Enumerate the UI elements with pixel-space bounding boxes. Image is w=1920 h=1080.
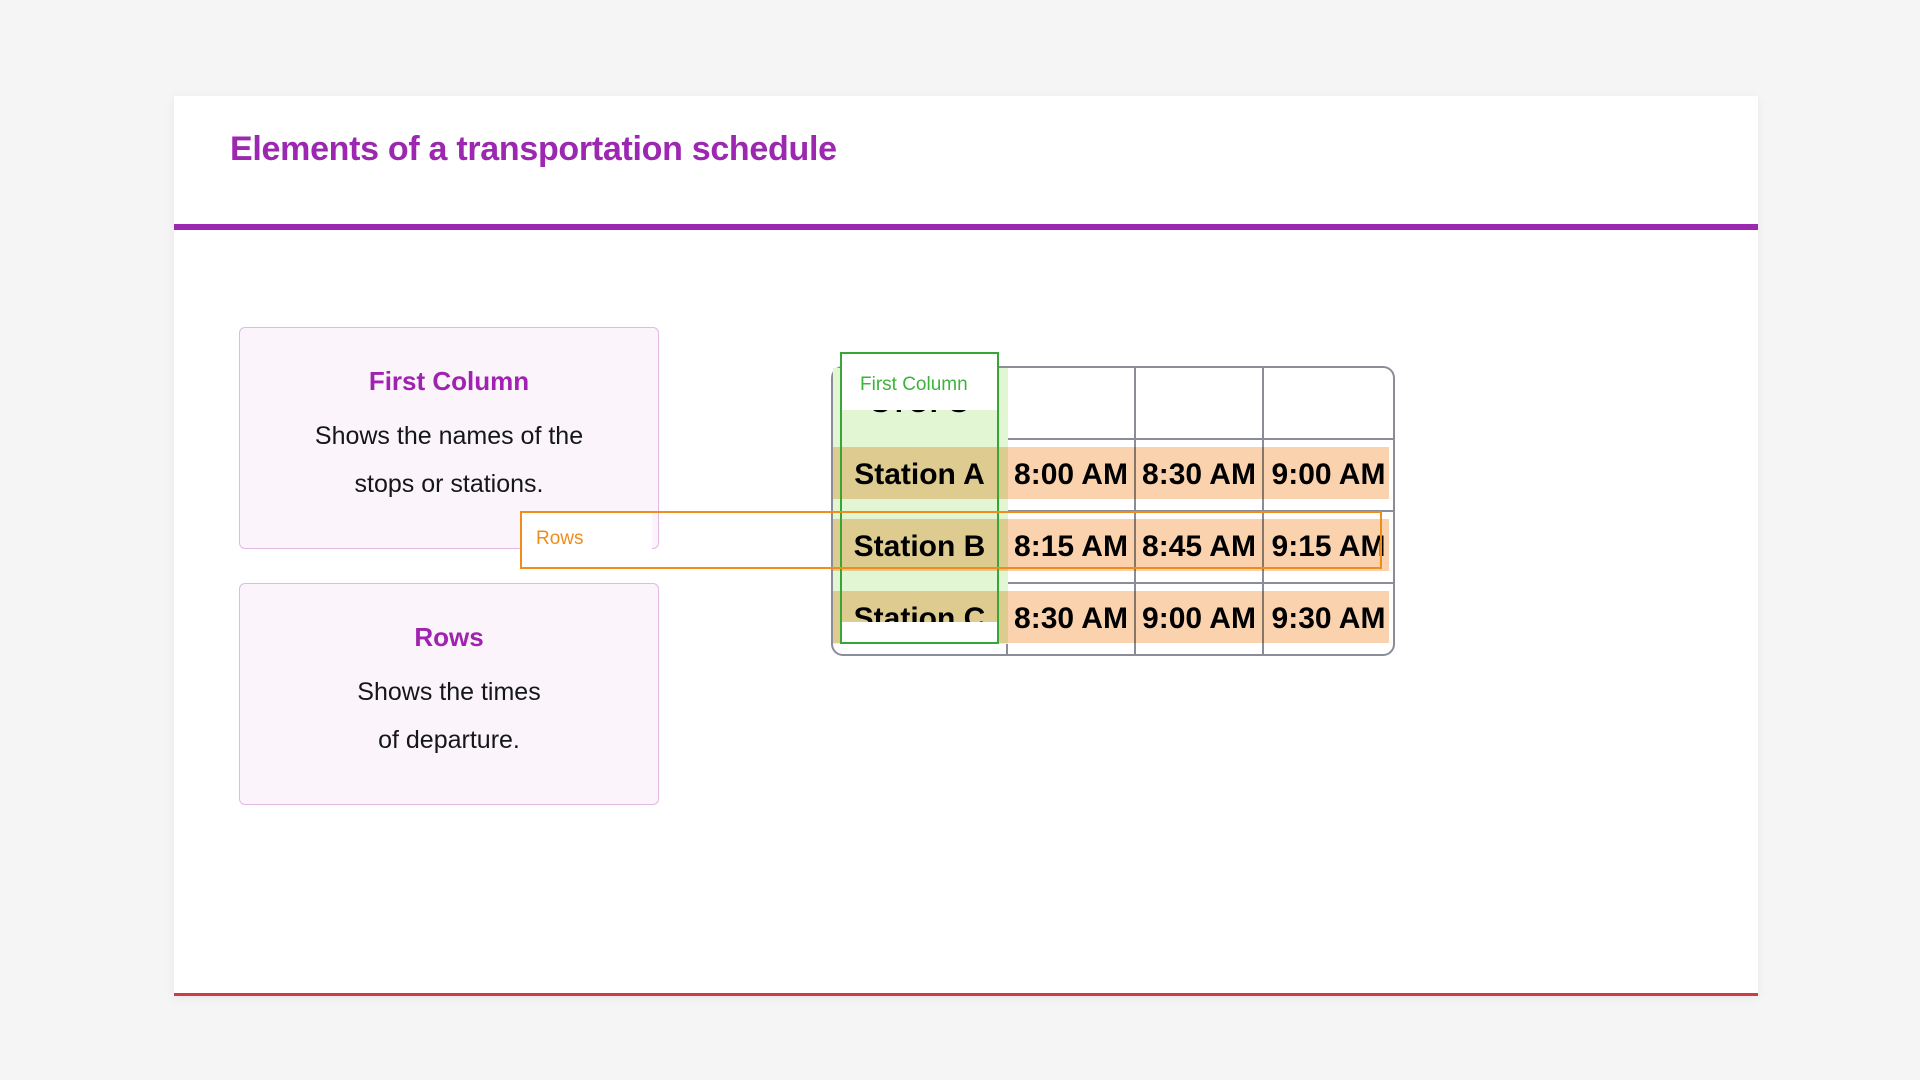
table-cell-text: 8:30 AM [1136,440,1262,510]
title-divider [174,224,1758,230]
info-card-body-line: Shows the names of the [258,413,640,461]
annotation-rows: Rows [520,511,1382,569]
table-cell-text: 8:00 AM [1008,440,1134,510]
annotation-label: First Column [860,374,968,396]
table-cell-text: 9:00 AM [1264,440,1393,510]
table-cell-time: 8:00 AM [1008,440,1136,512]
info-card-heading: First Column [240,366,658,397]
table-cell-time: 9:00 AM [1264,440,1393,512]
info-card-heading: Rows [240,622,658,653]
table-cell-time: 9:00 AM [1136,584,1264,654]
slide-canvas: Elements of a transportation schedule Fi… [174,96,1758,996]
table-header-cell-1 [1008,368,1136,440]
info-card-body: Shows the names of the stops or stations… [240,413,658,508]
annotation-label: Rows [536,528,584,550]
table-cell-time: 8:30 AM [1136,440,1264,512]
info-card-body-line: stops or stations. [258,461,640,509]
bottom-rule [174,993,1758,996]
table-header-cell-2 [1136,368,1264,440]
table-cell-time: 9:30 AM [1264,584,1393,654]
table-cell-text: 9:00 AM [1136,584,1262,654]
annotation-first-column: First Column [840,352,999,644]
table-cell-text: 8:30 AM [1008,584,1134,654]
table-cell-text: 9:30 AM [1264,584,1393,654]
info-card-body: Shows the times of departure. [240,669,658,764]
table-header-cell-3 [1264,368,1393,440]
info-card-body-line: of departure. [258,717,640,765]
page-title: Elements of a transportation schedule [230,130,837,169]
info-card-body-line: Shows the times [258,669,640,717]
table-cell-time: 8:30 AM [1008,584,1136,654]
info-card-rows: Rows Shows the times of departure. [239,583,659,805]
